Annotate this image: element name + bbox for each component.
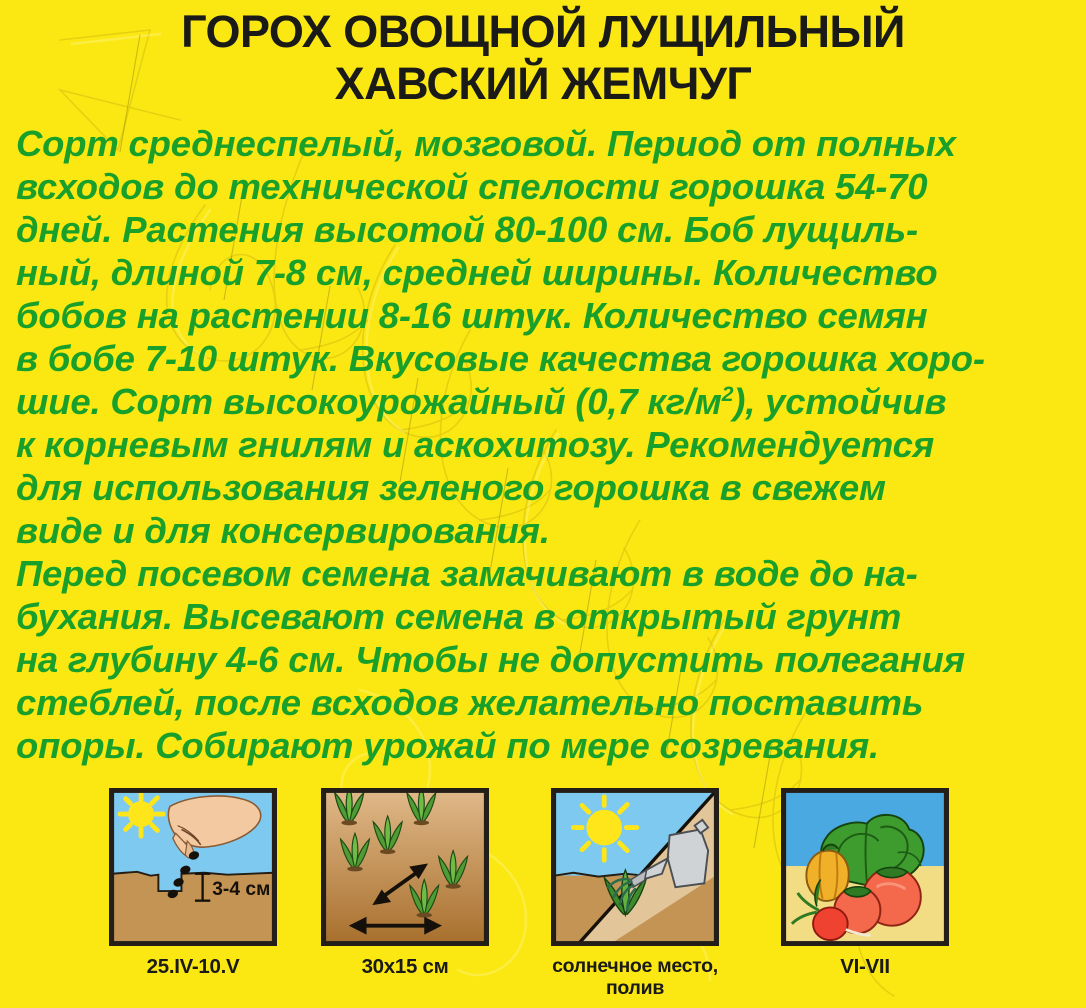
panel-caption-sowing: 25.IV-10.V xyxy=(106,955,280,978)
description-line: стеблей, после всходов желательно постав… xyxy=(16,681,1070,724)
description-line: бухания. Высевают семена в открытый грун… xyxy=(16,595,1070,638)
harvest-vegetables-icon xyxy=(781,788,949,946)
title-line-2: ХАВСКИЙ ЖЕМЧУГ xyxy=(0,58,1086,110)
panel-caption-care-line2: полив xyxy=(548,977,722,999)
seed-packet-label: ГОРОХ ОВОЩНОЙ ЛУЩИЛЬНЫЙ ХАВСКИЙ ЖЕМЧУГ С… xyxy=(0,0,1086,1008)
plant-spacing-arrows-icon xyxy=(321,788,489,946)
panel-caption-care: солнечное место, полив xyxy=(548,955,722,999)
description-line: дней. Растения высотой 80-100 см. Боб лу… xyxy=(16,208,1070,251)
page-title: ГОРОХ ОВОЩНОЙ ЛУЩИЛЬНЫЙ ХАВСКИЙ ЖЕМЧУГ xyxy=(0,6,1086,110)
description-line: всходов до технической спелости горошка … xyxy=(16,165,1070,208)
panel-caption-spacing: 30x15 см xyxy=(318,955,492,978)
panel-harvest: VI-VII xyxy=(778,788,952,978)
pictogram-row: 3-4 см 25.IV-10.V xyxy=(0,788,1086,1008)
description-line: на глубину 4-6 см. Чтобы не допустить по… xyxy=(16,638,1070,681)
description-line: виде и для консервирования. xyxy=(16,509,1070,552)
yield-text-after: ), устойчив xyxy=(733,381,946,422)
sowing-depth-label: 3-4 см xyxy=(212,879,270,900)
description-line: ный, длиной 7-8 см, средней ширины. Коли… xyxy=(16,251,1070,294)
title-line-1: ГОРОХ ОВОЩНОЙ ЛУЩИЛЬНЫЙ xyxy=(0,6,1086,58)
description-line-yield: шие. Сорт высокоурожайный (0,7 кг/м2), у… xyxy=(16,380,1070,423)
description-line: опоры. Собирают урожай по мере созревани… xyxy=(16,724,1070,767)
panel-sowing: 3-4 см 25.IV-10.V xyxy=(106,788,280,978)
description-line: Сорт среднеспелый, мозговой. Период от п… xyxy=(16,122,1070,165)
square-meter-exponent: 2 xyxy=(722,383,734,406)
description-line: для использования зеленого горошка в све… xyxy=(16,466,1070,509)
yield-text-before: шие. Сорт высокоурожайный (0,7 кг/м xyxy=(16,381,722,422)
description-line: Перед посевом семена замачивают в воде д… xyxy=(16,552,1070,595)
panel-spacing: 30x15 см xyxy=(318,788,492,978)
panel-caption-harvest: VI-VII xyxy=(778,955,952,978)
hand-sowing-seeds-icon: 3-4 см xyxy=(109,788,277,946)
panel-caption-care-line1: солнечное место, xyxy=(548,955,722,977)
description-text: Сорт среднеспелый, мозговой. Период от п… xyxy=(16,122,1070,767)
sun-and-watering-can-icon xyxy=(551,788,719,946)
panel-care: солнечное место, полив xyxy=(548,788,722,999)
description-line: бобов на растении 8-16 штук. Количество … xyxy=(16,294,1070,337)
description-line: к корневым гнилям и аскохитозу. Рекоменд… xyxy=(16,423,1070,466)
description-line: в бобе 7-10 штук. Вкусовые качества горо… xyxy=(16,337,1070,380)
